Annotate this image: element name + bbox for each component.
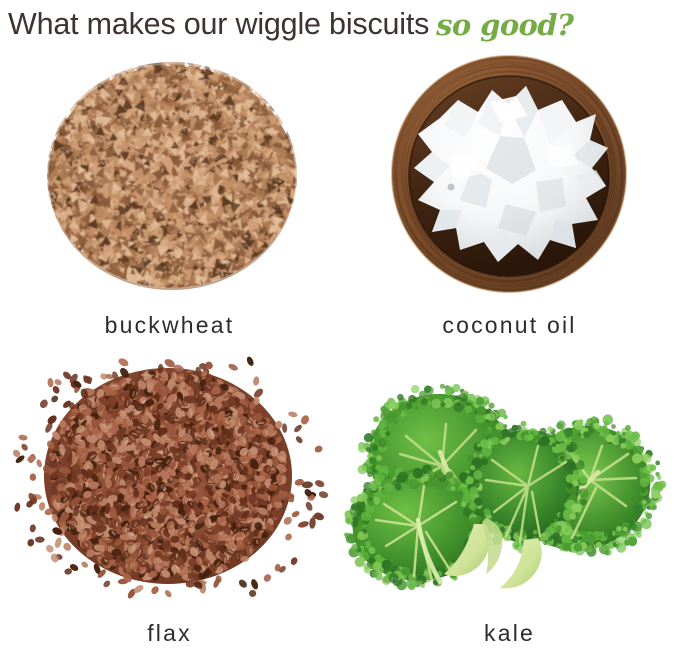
kale-image (340, 354, 679, 599)
ingredient-card-flax: flax (0, 354, 339, 655)
ingredient-grid: buckwheat (0, 52, 679, 655)
ingredient-card-buckwheat: buckwheat (0, 52, 339, 353)
ingredient-card-coconut-oil: coconut oil (340, 52, 679, 353)
ingredient-label-coconut-oil: coconut oil (340, 312, 679, 339)
ingredient-label-kale: kale (340, 620, 679, 647)
buckwheat-groats-pile-photo (0, 52, 339, 297)
buckwheat-image (0, 52, 339, 297)
headline-main-text: What makes our wiggle biscuits (8, 7, 429, 41)
coconut-oil-in-wooden-bowl-photo (340, 52, 679, 297)
headline-script-text: so good? (436, 8, 573, 42)
page-title: What makes our wiggle biscuitsso good? (8, 2, 673, 48)
curly-kale-leaves-photo (340, 354, 679, 599)
ingredient-card-kale: kale (340, 354, 679, 655)
ingredient-label-buckwheat: buckwheat (0, 312, 339, 339)
coconut-oil-image (340, 52, 679, 297)
flax-seeds-pile-photo (0, 354, 339, 599)
flax-image (0, 354, 339, 599)
ingredient-label-flax: flax (0, 620, 339, 647)
